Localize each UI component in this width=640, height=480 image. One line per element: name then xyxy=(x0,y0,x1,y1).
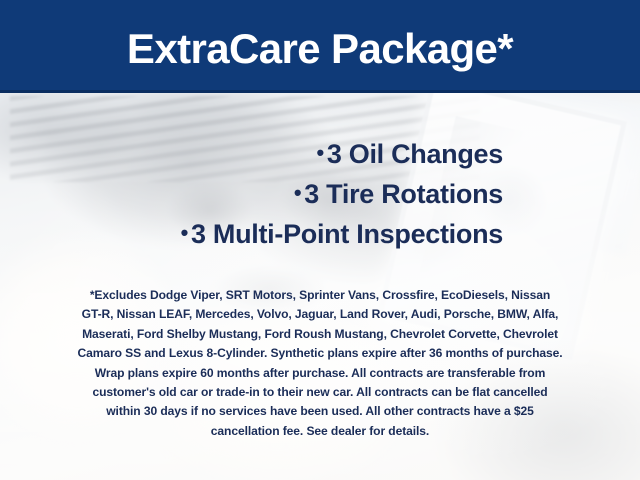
offer-list: •3 Oil Changes •3 Tire Rotations •3 Mult… xyxy=(0,135,503,255)
disclaimer-line: customer's old car or trade-in to their … xyxy=(28,383,612,402)
list-item: •3 Tire Rotations xyxy=(0,175,503,215)
offer-label: 3 Multi-Point Inspections xyxy=(191,219,503,249)
disclaimer-line: within 30 days if no services have been … xyxy=(28,402,612,421)
list-item: •3 Multi-Point Inspections xyxy=(0,215,503,255)
disclaimer-line: Wrap plans expire 60 months after purcha… xyxy=(28,364,612,383)
disclaimer-line: *Excludes Dodge Viper, SRT Motors, Sprin… xyxy=(28,286,612,305)
page-title: ExtraCare Package* xyxy=(127,28,513,70)
disclaimer-line: cancellation fee. See dealer for details… xyxy=(28,422,612,441)
bullet-dot-icon: • xyxy=(294,180,304,205)
disclaimer-text: *Excludes Dodge Viper, SRT Motors, Sprin… xyxy=(28,286,612,441)
offer-label: 3 Tire Rotations xyxy=(304,179,503,209)
disclaimer-line: Maserati, Ford Shelby Mustang, Ford Rous… xyxy=(28,325,612,344)
bullet-dot-icon: • xyxy=(181,220,191,245)
offer-label: 3 Oil Changes xyxy=(327,139,503,169)
bullet-dot-icon: • xyxy=(316,140,326,165)
disclaimer-line: GT-R, Nissan LEAF, Mercedes, Volvo, Jagu… xyxy=(28,305,612,324)
list-item: •3 Oil Changes xyxy=(0,135,503,175)
extracare-package-promo: ExtraCare Package* •3 Oil Changes •3 Tir… xyxy=(0,0,640,480)
header-banner: ExtraCare Package* xyxy=(0,0,640,93)
disclaimer-line: Camaro SS and Lexus 8-Cylinder. Syntheti… xyxy=(28,344,612,363)
